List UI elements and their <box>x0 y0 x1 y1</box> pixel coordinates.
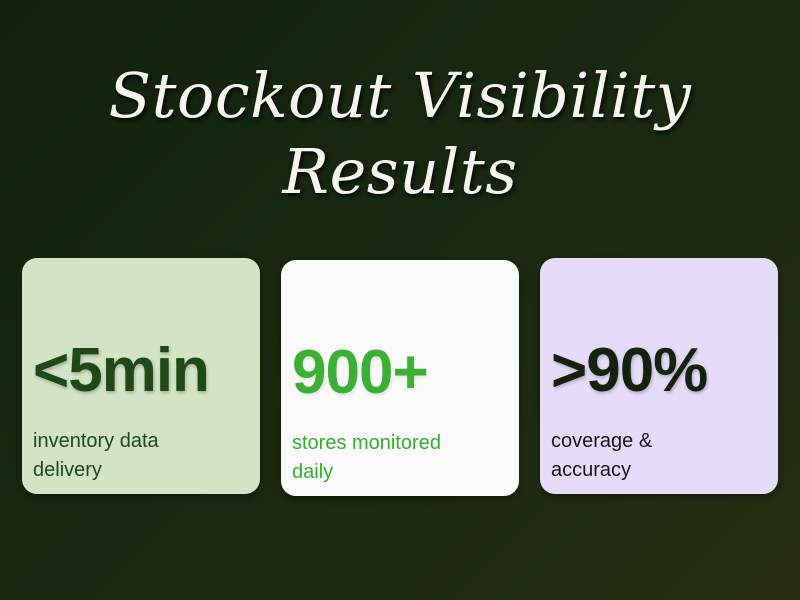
stat-card-inventory-data-delivery: <5min inventory data delivery <box>22 258 260 494</box>
stat-label: stores monitored daily <box>292 429 508 487</box>
stat-label: inventory data delivery <box>33 427 249 485</box>
slide-root: Stockout Visibility Results <5min invent… <box>0 0 800 600</box>
page-title-text: Stockout Visibility Results <box>0 58 800 210</box>
page-title: Stockout Visibility Results <box>0 58 800 210</box>
stat-value: <5min <box>33 340 249 402</box>
stat-value: 900+ <box>292 342 508 404</box>
stat-card-stores-monitored-daily: 900+ stores monitored daily <box>281 260 519 496</box>
stat-label: coverage & accuracy <box>551 427 767 485</box>
stat-card-coverage-accuracy: >90% coverage & accuracy <box>540 258 778 494</box>
stat-value: >90% <box>551 340 767 402</box>
stat-card-row: <5min inventory data delivery 900+ store… <box>22 258 778 498</box>
